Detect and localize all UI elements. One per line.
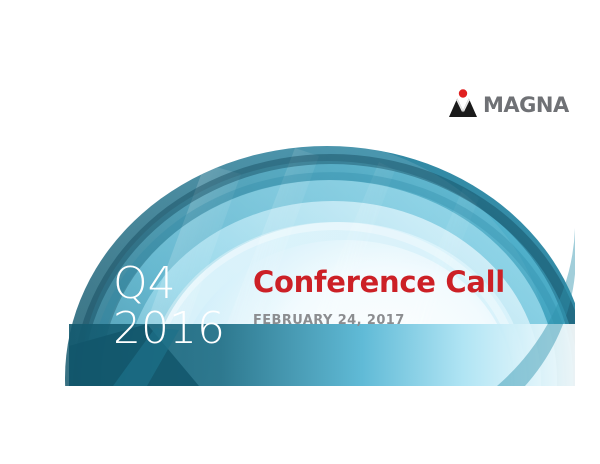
magna-mountain-mark-icon [448, 88, 478, 118]
quarter-year: Q4 2016 [113, 262, 225, 352]
magna-logo: MAGNA [448, 82, 570, 118]
quarter-label: Q4 [113, 262, 225, 307]
year-label: 2016 [113, 307, 225, 352]
headline-group: Conference Call FEBRUARY 24, 2017 [253, 262, 505, 327]
magna-wordmark: MAGNA [483, 95, 569, 118]
presentation-date: FEBRUARY 24, 2017 [253, 314, 505, 327]
page-title: Conference Call [253, 268, 505, 297]
presentation-slide: MAGNA Q4 2016 Conference Call FEBRUARY 2… [27, 78, 575, 386]
title-block: Q4 2016 Conference Call FEBRUARY 24, 201… [113, 262, 505, 352]
